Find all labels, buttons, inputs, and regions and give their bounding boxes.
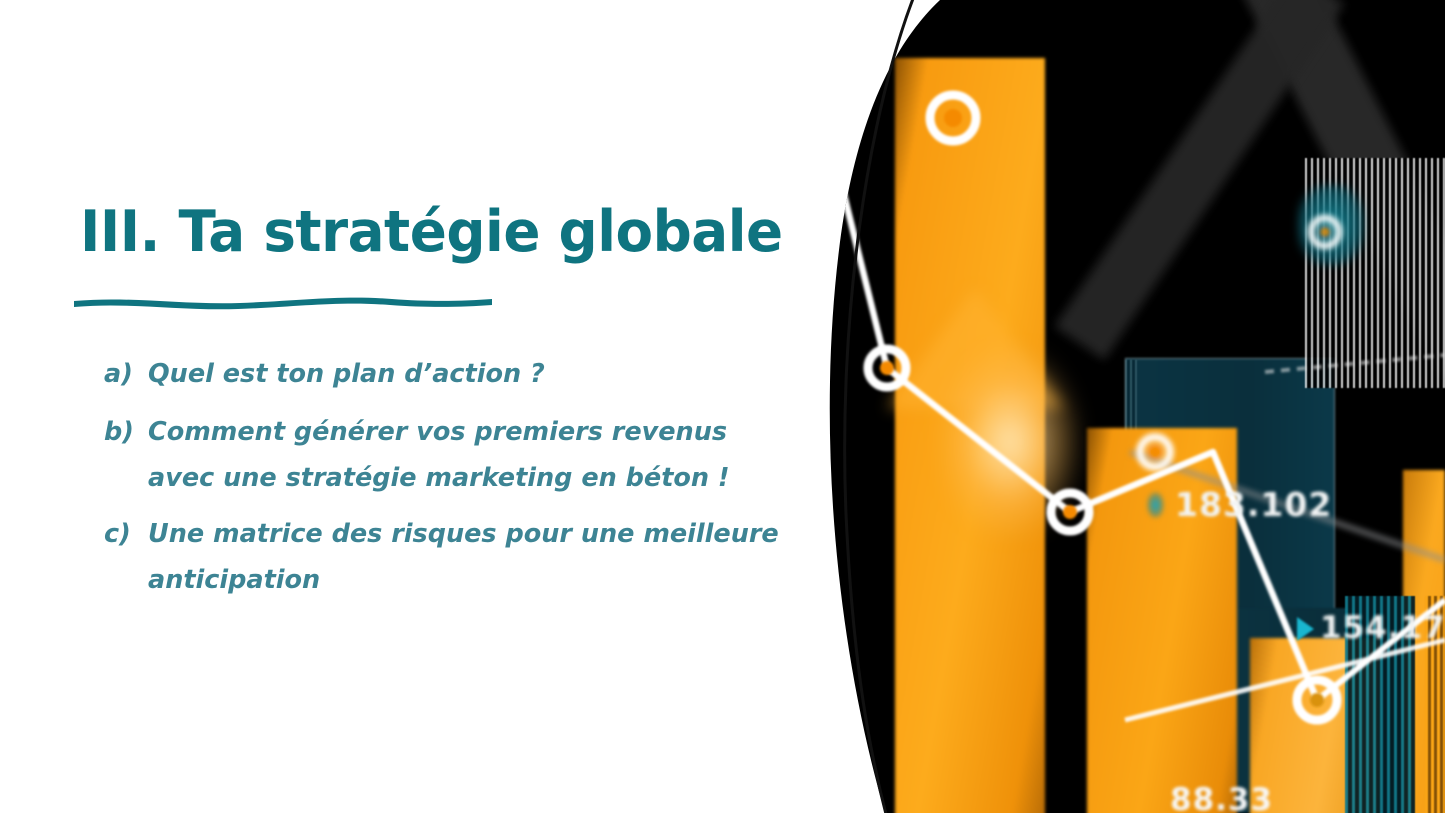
list-item: c) Une matrice des risques pour une meil…	[104, 512, 804, 603]
list-item-marker: b)	[104, 410, 148, 455]
financial-chart-photo: 183.102 154.178 88.33	[825, 0, 1445, 813]
list-item-label: Une matrice des risques pour une meilleu…	[148, 512, 796, 603]
readout-value: 88.33	[1170, 782, 1273, 813]
photo-curved-mask: 183.102 154.178 88.33	[825, 0, 1445, 813]
cyan-caret-icon	[1297, 617, 1314, 641]
cyan-dot-icon	[1147, 492, 1164, 518]
readout-value: 154.178	[1320, 610, 1445, 646]
title-underline-swoosh	[72, 292, 494, 312]
line-graph	[825, 0, 1445, 813]
photo-content: 183.102 154.178 88.33	[825, 0, 1445, 813]
readout-value: 183.102	[1175, 485, 1332, 524]
list-item: a) Quel est ton plan d’action ?	[104, 352, 804, 397]
list-item: b) Comment générer vos premiers revenus …	[104, 410, 804, 501]
bullet-list: a) Quel est ton plan d’action ? b) Comme…	[104, 352, 804, 603]
list-item-label: Quel est ton plan d’action ?	[148, 352, 796, 397]
slide-canvas: III. Ta stratégie globale a) Quel est to…	[0, 0, 1445, 813]
page-title: III. Ta stratégie globale	[80, 204, 771, 261]
text-column: III. Ta stratégie globale a) Quel est to…	[0, 0, 830, 813]
list-item-marker: a)	[104, 352, 148, 397]
list-item-marker: c)	[104, 512, 148, 557]
list-item-label: Comment générer vos premiers revenus ave…	[148, 410, 796, 501]
